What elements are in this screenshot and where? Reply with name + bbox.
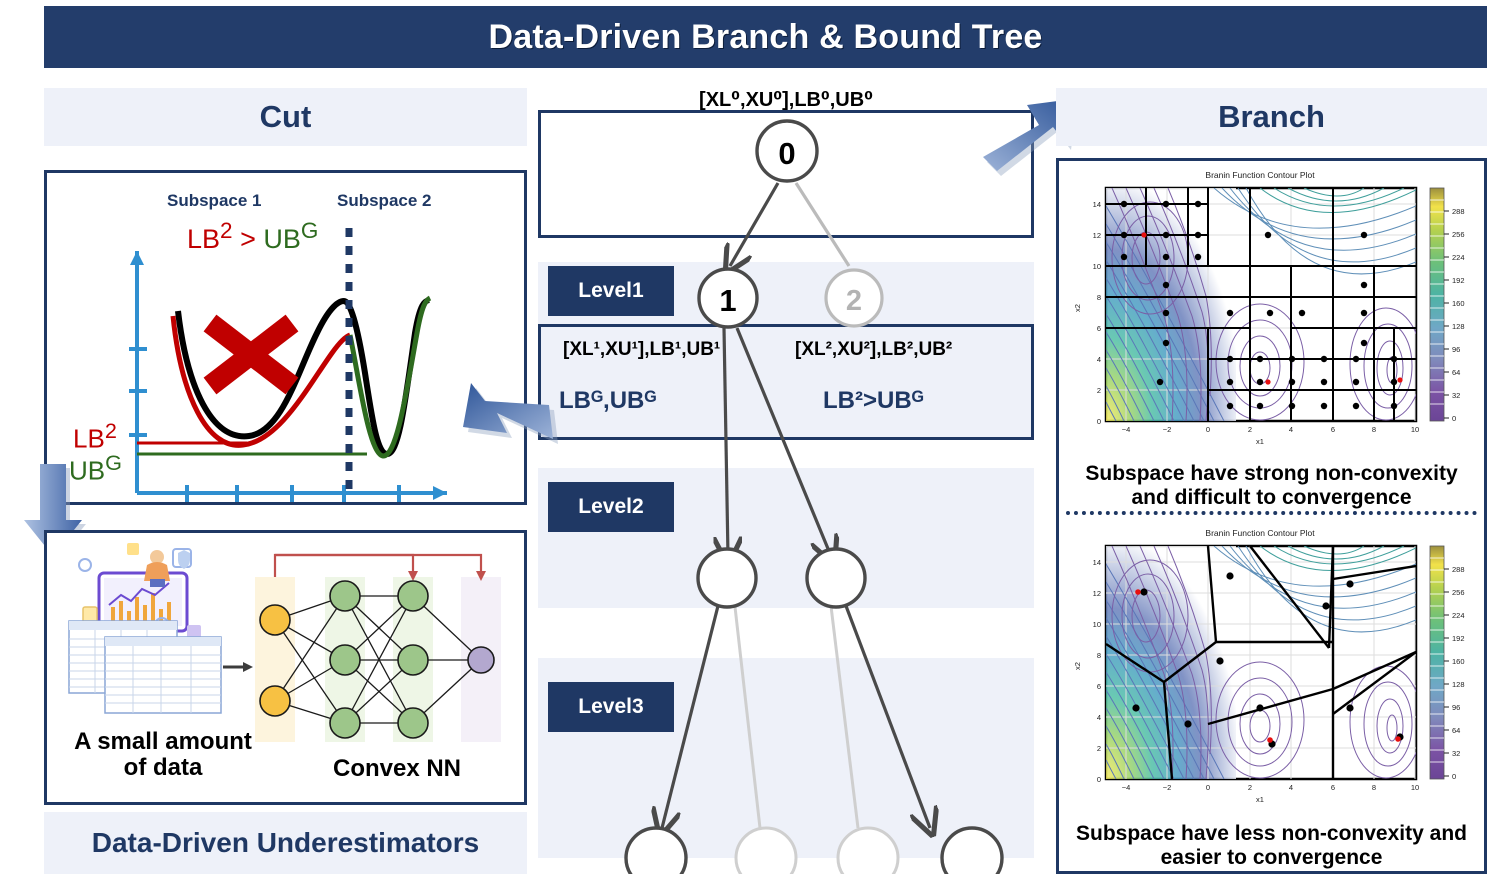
svg-text:0: 0: [1206, 783, 1210, 792]
svg-text:0: 0: [1097, 775, 1101, 784]
section-title-cut: Cut: [260, 99, 312, 135]
annotation-ubg: UBG: [263, 224, 318, 254]
data-driven-underestimators-footer: Data-Driven Underestimators: [44, 812, 527, 874]
svg-text:6: 6: [1331, 425, 1335, 434]
svg-text:224: 224: [1452, 611, 1465, 620]
svg-text:−4: −4: [1122, 425, 1131, 434]
svg-text:8: 8: [1372, 783, 1376, 792]
convex-nn-label: Convex NN: [297, 755, 497, 783]
level2-badge: Level2: [548, 482, 674, 532]
contour-plot-polytope-svg: Branin Function Contour Plot: [1064, 524, 1479, 816]
svg-text:2: 2: [1097, 386, 1101, 395]
svg-text:0: 0: [1452, 414, 1456, 423]
data-illustration: [69, 543, 221, 713]
svg-text:4: 4: [1097, 355, 1101, 364]
svg-text:6: 6: [1097, 324, 1101, 333]
cut-inequality-annotation: LB2 > UBG: [187, 218, 318, 255]
annotation-lb2: LB2: [187, 224, 233, 254]
node1-bounds-label: [XL¹,XU¹],LB¹,UB¹: [563, 339, 720, 361]
svg-text:0: 0: [1452, 772, 1456, 781]
svg-text:0: 0: [1097, 417, 1101, 426]
cut-function-plot-card: Subspace 1 Subspace 2: [44, 170, 527, 505]
ubg-axis-label: UBG: [69, 450, 122, 487]
svg-text:192: 192: [1452, 276, 1465, 285]
contour-plot-grid: Branin Function Contour Plot: [1064, 166, 1479, 458]
svg-text:64: 64: [1452, 726, 1460, 735]
svg-text:10: 10: [1093, 620, 1101, 629]
svg-text:4: 4: [1097, 713, 1101, 722]
prune-condition-label: LB²>UBᴳ: [823, 387, 924, 415]
level1-badge: Level1: [548, 266, 674, 316]
root-bounds-label: [XL⁰,XU⁰],LB⁰,UB⁰: [538, 87, 1034, 112]
branch-caption-bottom: Subspace have less non-convexity and eas…: [1060, 822, 1483, 869]
subspace-2-label: Subspace 2: [337, 191, 432, 211]
branch-panel-divider: [1066, 511, 1477, 515]
svg-text:288: 288: [1452, 565, 1465, 574]
section-header-branch: Branch: [1056, 88, 1487, 146]
root-box: [538, 110, 1034, 238]
contour-plot-grid-svg: Branin Function Contour Plot: [1064, 166, 1479, 458]
annotation-gt: >: [240, 224, 256, 254]
svg-text:288: 288: [1452, 207, 1465, 216]
svg-text:256: 256: [1452, 230, 1465, 239]
svg-text:256: 256: [1452, 588, 1465, 597]
svg-text:14: 14: [1093, 200, 1101, 209]
contour-plot-polytope: Branin Function Contour Plot: [1064, 524, 1479, 816]
svg-text:4: 4: [1289, 425, 1293, 434]
svg-text:96: 96: [1452, 345, 1460, 354]
svg-text:64: 64: [1452, 368, 1460, 377]
svg-text:2: 2: [1097, 744, 1101, 753]
node2-bounds-label: [XL²,XU²],LB²,UB²: [795, 339, 952, 361]
svg-text:6: 6: [1331, 783, 1335, 792]
svg-text:96: 96: [1452, 703, 1460, 712]
svg-text:14: 14: [1093, 558, 1101, 567]
svg-text:2: 2: [1248, 783, 1252, 792]
svg-text:10: 10: [1093, 262, 1101, 271]
svg-text:32: 32: [1452, 391, 1460, 400]
svg-text:224: 224: [1452, 253, 1465, 262]
page-title-banner: Data-Driven Branch & Bound Tree: [44, 6, 1487, 68]
svg-text:10: 10: [1411, 425, 1419, 434]
svg-text:10: 10: [1411, 783, 1419, 792]
section-title-branch: Branch: [1218, 99, 1325, 135]
svg-text:8: 8: [1372, 425, 1376, 434]
svg-text:32: 32: [1452, 749, 1460, 758]
level3-badge: Level3: [548, 682, 674, 732]
svg-text:160: 160: [1452, 299, 1465, 308]
svg-text:128: 128: [1452, 680, 1465, 689]
svg-text:4: 4: [1289, 783, 1293, 792]
svg-text:12: 12: [1093, 231, 1101, 240]
page-title: Data-Driven Branch & Bound Tree: [488, 18, 1042, 57]
svg-text:−4: −4: [1122, 783, 1131, 792]
svg-text:192: 192: [1452, 634, 1465, 643]
branch-and-bound-tree-panel: [XL⁰,XU⁰],LB⁰,UB⁰ [XL¹,XU¹],LB¹,UB¹ [XL²…: [538, 88, 1034, 874]
subspace-1-label: Subspace 1: [167, 191, 262, 211]
svg-text:−2: −2: [1163, 425, 1172, 434]
svg-text:x2: x2: [1073, 304, 1082, 312]
svg-text:12: 12: [1093, 589, 1101, 598]
convex-nn-card: A small amount of data Convex NN: [44, 530, 527, 805]
level1-info-box: [XL¹,XU¹],LB¹,UB¹ [XL²,XU²],LB²,UB² LBᴳ,…: [538, 324, 1034, 440]
global-bounds-label: LBᴳ,UBᴳ: [559, 387, 656, 415]
svg-text:x1: x1: [1256, 795, 1264, 804]
section-header-cut: Cut: [44, 88, 527, 146]
svg-text:0: 0: [1206, 425, 1210, 434]
svg-text:2: 2: [1248, 425, 1252, 434]
branch-caption-top: Subspace have strong non-convexity and d…: [1060, 462, 1483, 509]
svg-text:8: 8: [1097, 651, 1101, 660]
data-to-nn-arrow: [223, 662, 253, 672]
plot1-title: Branin Function Contour Plot: [1205, 170, 1315, 180]
svg-text:−2: −2: [1163, 783, 1172, 792]
skip-connection-arrows: [275, 555, 481, 577]
plot2-title: Branin Function Contour Plot: [1205, 528, 1315, 538]
svg-text:128: 128: [1452, 322, 1465, 331]
svg-text:6: 6: [1097, 682, 1101, 691]
svg-text:8: 8: [1097, 293, 1101, 302]
data-driven-underestimators-label: Data-Driven Underestimators: [92, 827, 479, 859]
svg-text:x1: x1: [1256, 437, 1264, 446]
svg-text:x2: x2: [1073, 662, 1082, 670]
svg-text:160: 160: [1452, 657, 1465, 666]
small-data-label: A small amount of data: [65, 729, 261, 781]
